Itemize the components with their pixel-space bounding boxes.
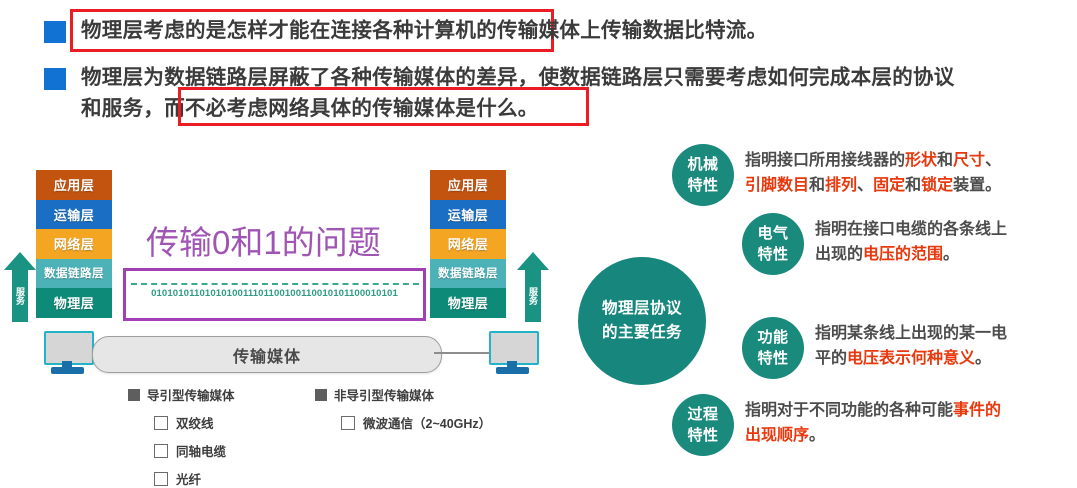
- legend-guided-media: 导引型传输媒体 双绞线 同轴电缆 光纤: [128, 385, 235, 488]
- desc-text: 指明接口所用接线器的: [745, 152, 905, 169]
- desc-text: 平的: [815, 350, 847, 367]
- computer-icon-left: [42, 331, 94, 375]
- legend-square-icon: [315, 389, 327, 401]
- bullet-marker-1: [44, 21, 66, 43]
- legend-unguided-header: 非导引型传输媒体: [315, 385, 491, 404]
- desc-text: 装置。: [953, 177, 1001, 194]
- characteristic-desc-electrical: 指明在接口电缆的各条线上 出现的电压的范围。: [815, 217, 1007, 267]
- center-circle-line1: 物理层协议: [602, 297, 682, 321]
- desc-text: 、: [985, 152, 1001, 169]
- legend-unguided-media: 非导引型传输媒体 微波通信（2~40GHz）: [315, 385, 491, 432]
- bitstream-dashed-line: [131, 283, 419, 285]
- layer-network-right: 网络层: [430, 229, 506, 259]
- legend-item-microwave[interactable]: 微波通信（2~40GHz）: [341, 413, 491, 432]
- desc-highlight: 引脚数目: [745, 177, 809, 194]
- layer-network-left: 网络层: [36, 229, 112, 259]
- desc-highlight: 电压的范围: [863, 246, 943, 263]
- bitstream-value: 0101010110101010011101100100110010101100…: [128, 288, 421, 299]
- layer-datalink-left: 数据链路层: [36, 259, 112, 289]
- characteristic-circle-procedural: 过程 特性: [672, 394, 734, 456]
- transmission-question-title: 传输0和1的问题: [146, 216, 381, 264]
- tag-line1: 功能: [757, 327, 788, 348]
- legend-item-fiber[interactable]: 光纤: [154, 469, 235, 488]
- characteristic-desc-functional: 指明某条线上出现的某一电 平的电压表示何种意义。: [815, 321, 1007, 371]
- desc-text: 。: [809, 427, 825, 444]
- protocol-stack-left: 应用层 运输层 网络层 数据链路层 物理层: [36, 170, 112, 318]
- characteristic-circle-electrical: 电气 特性: [742, 213, 804, 275]
- service-arrow-right-icon: 服务: [516, 252, 550, 322]
- protocol-stack-right: 应用层 运输层 网络层 数据链路层 物理层: [430, 170, 506, 318]
- physical-layer-task-circle: 物理层协议 的主要任务: [578, 257, 706, 385]
- desc-highlight: 锁定: [921, 177, 953, 194]
- link-wire-right: [434, 352, 489, 354]
- desc-text: 、: [857, 177, 873, 194]
- desc-highlight: 固定: [873, 177, 905, 194]
- characteristic-desc-procedural: 指明对于不同功能的各种可能事件的 出现顺序。: [745, 398, 1001, 448]
- legend-unguided-title: 非导引型传输媒体: [334, 385, 434, 404]
- computer-icon-right: [487, 331, 539, 375]
- desc-highlight: 出现顺序: [745, 427, 809, 444]
- desc-text: 。: [975, 350, 991, 367]
- desc-highlight: 排列: [825, 177, 857, 194]
- legend-item-coaxial[interactable]: 同轴电缆: [154, 441, 235, 460]
- characteristic-desc-mechanical: 指明接口所用接线器的形状和尺寸、 引脚数目和排列、固定和锁定装置。: [745, 148, 1001, 198]
- checkbox-icon[interactable]: [154, 472, 168, 486]
- desc-highlight: 电压表示何种意义: [847, 350, 975, 367]
- characteristic-circle-mechanical: 机械 特性: [672, 144, 734, 206]
- desc-text: 和: [905, 177, 921, 194]
- center-circle-line2: 的主要任务: [602, 321, 682, 345]
- layer-application-left: 应用层: [36, 170, 112, 200]
- legend-guided-header: 导引型传输媒体: [128, 385, 235, 404]
- highlight-box-2: [178, 87, 589, 126]
- desc-text: 指明在接口电缆的各条线上: [815, 221, 1007, 238]
- tag-line2: 特性: [757, 244, 788, 265]
- tag-line2: 特性: [687, 425, 718, 446]
- service-arrow-right-label: 服务: [523, 287, 543, 307]
- layer-transport-right: 运输层: [430, 200, 506, 230]
- desc-text: 指明对于不同功能的各种可能: [745, 402, 953, 419]
- layer-datalink-right: 数据链路层: [430, 259, 506, 289]
- transmission-media-bar: 传输媒体: [92, 336, 442, 373]
- legend-item-label: 光纤: [176, 469, 201, 488]
- desc-text: 和: [809, 177, 825, 194]
- characteristic-circle-functional: 功能 特性: [742, 317, 804, 379]
- checkbox-icon[interactable]: [154, 416, 168, 430]
- tag-line1: 过程: [687, 404, 718, 425]
- service-arrow-left-icon: 服务: [3, 252, 37, 322]
- legend-item-twisted-pair[interactable]: 双绞线: [154, 413, 235, 432]
- desc-text: 。: [943, 246, 959, 263]
- tag-line1: 电气: [757, 223, 788, 244]
- bullet-text-2-prefix: 和服务，: [81, 97, 164, 120]
- desc-highlight: 尺寸: [953, 152, 985, 169]
- bullet-marker-2: [44, 68, 66, 90]
- layer-application-right: 应用层: [430, 170, 506, 200]
- legend-square-icon: [128, 389, 140, 401]
- slide-canvas: 物理层考虑的是怎样才能在连接各种计算机的传输媒体上传输数据比特流。 物理层为数据…: [0, 0, 1077, 483]
- checkbox-icon[interactable]: [154, 444, 168, 458]
- tag-line1: 机械: [687, 154, 718, 175]
- legend-guided-title: 导引型传输媒体: [147, 385, 235, 404]
- desc-highlight: 形状: [905, 152, 937, 169]
- desc-highlight: 事件的: [953, 402, 1001, 419]
- service-arrow-left-label: 服务: [10, 287, 30, 307]
- desc-text: 出现的: [815, 246, 863, 263]
- legend-item-label: 双绞线: [176, 413, 214, 432]
- bullet-text-1: 物理层考虑的是怎样才能在连接各种计算机的传输媒体上传输数据比特流。: [81, 15, 767, 46]
- legend-item-label: 微波通信（2~40GHz）: [363, 413, 491, 432]
- desc-text: 指明某条线上出现的某一电: [815, 325, 1007, 342]
- desc-text: 和: [937, 152, 953, 169]
- tag-line2: 特性: [687, 175, 718, 196]
- layer-physical-right: 物理层: [430, 288, 506, 318]
- checkbox-icon[interactable]: [341, 416, 355, 430]
- layer-transport-left: 运输层: [36, 200, 112, 230]
- layer-physical-left: 物理层: [36, 288, 112, 318]
- legend-item-label: 同轴电缆: [176, 441, 226, 460]
- tag-line2: 特性: [757, 348, 788, 369]
